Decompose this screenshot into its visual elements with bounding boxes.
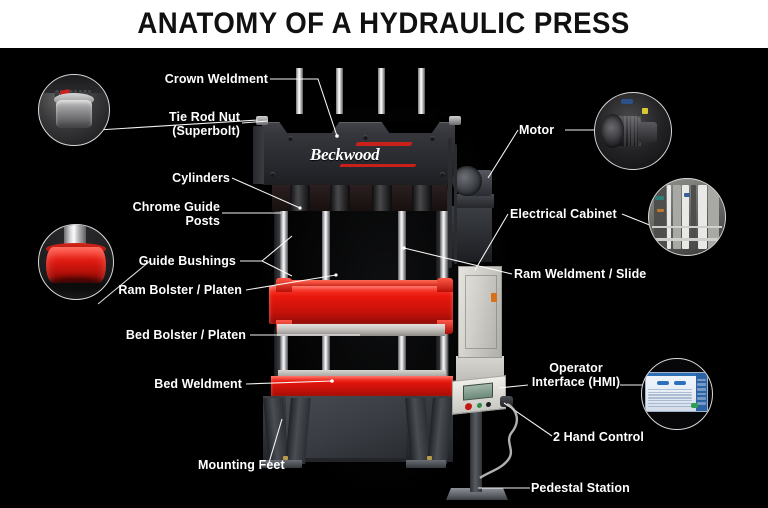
detail-cabinet-terminal <box>655 196 664 200</box>
pedestal-column <box>470 410 482 492</box>
cable-run-vertical <box>448 138 452 268</box>
label-cylinders: Cylinders <box>110 171 230 185</box>
crown-notch <box>262 122 455 133</box>
label-chrome-guide-posts: Chrome Guide Posts <box>100 200 220 228</box>
detail-hmi-status-indicator <box>691 403 698 408</box>
cabinet-disconnect-switch <box>491 293 497 302</box>
bed-bolster-platen <box>271 376 453 396</box>
emergency-stop-button[interactable] <box>465 403 472 411</box>
mounting-foot-bolt <box>427 456 432 460</box>
crown-bolt <box>430 136 435 141</box>
ram-weldment-slide <box>269 286 453 324</box>
ram-bolster-platen <box>277 324 445 336</box>
cylinder-rod <box>418 68 425 114</box>
detail-hmi-button <box>657 381 669 384</box>
guide-bushing-upper-right <box>437 278 453 292</box>
crown-side-plate <box>253 126 264 184</box>
detail-hmi-data-grid <box>648 389 693 409</box>
detail-motor-conduit <box>621 99 633 104</box>
cylinder-rod <box>336 68 343 114</box>
cylinder-rod <box>296 68 303 114</box>
detail-cabinet-terminal <box>684 193 690 198</box>
detail-hmi-button <box>674 381 686 384</box>
label-bed-bolster-platen: Bed Bolster / Platen <box>100 328 246 342</box>
two-hand-control-button[interactable] <box>500 396 513 407</box>
infographic-poster: ANATOMY OF A HYDRAULIC PRESS Beckwood <box>0 0 768 508</box>
hmi-screen[interactable] <box>463 383 493 401</box>
beckwood-logo: Beckwood <box>310 142 420 168</box>
cable-run-bundle <box>454 144 457 264</box>
detail-motor-junction-box <box>638 122 658 142</box>
crown-bolt <box>288 136 293 141</box>
label-tie-rod-nut: Tie Rod Nut (Superbolt) <box>108 110 240 138</box>
detail-cabinet-din-rail <box>652 226 722 228</box>
logo-swoosh-bottom <box>339 164 416 167</box>
superbolt-body <box>56 100 92 128</box>
electrical-cabinet-detail-image <box>649 179 725 255</box>
motor-mount <box>456 194 494 208</box>
hydraulic-cylinder <box>330 185 350 211</box>
detail-motor-fan-cover <box>601 114 624 147</box>
detail-hmi-screen <box>645 372 708 413</box>
label-pedestal-station: Pedestal Station <box>531 481 681 495</box>
mounting-foot-right <box>406 460 446 468</box>
crown-bolt <box>270 172 275 177</box>
detail-cabinet-din-rail <box>652 238 722 240</box>
operator-interface-panel[interactable] <box>452 375 506 415</box>
selector-switch[interactable] <box>486 402 491 408</box>
label-guide-bushings: Guide Bushings <box>108 254 236 268</box>
title-band: ANATOMY OF A HYDRAULIC PRESS <box>0 0 768 48</box>
tie-rod-nut-detail-circle <box>38 74 110 146</box>
tie-rod-nut-detail-image <box>39 75 109 145</box>
logo-wordmark: Beckwood <box>310 146 420 163</box>
label-operator-interface: Operator Interface (HMI) <box>506 361 646 389</box>
cylinder-rod <box>378 68 385 114</box>
hydraulic-cylinder <box>290 185 310 211</box>
label-bed-weldment: Bed Weldment <box>110 377 242 391</box>
tie-rod-nut-left <box>256 116 268 125</box>
cabinet-door-panel <box>465 275 497 349</box>
page-title: ANATOMY OF A HYDRAULIC PRESS <box>138 9 630 39</box>
hmi-detail-image <box>642 359 712 429</box>
crown-bolt <box>363 135 368 140</box>
start-button[interactable] <box>477 403 482 409</box>
diagram-stage: Beckwood <box>0 48 768 508</box>
motor-detail-image <box>595 93 671 169</box>
hydraulic-cylinder <box>412 185 432 211</box>
tie-rod-nut-right <box>449 116 461 125</box>
hydraulic-cylinder <box>372 185 392 211</box>
label-ram-weldment-slide: Ram Weldment / Slide <box>514 267 694 281</box>
detail-motor-tag <box>642 108 648 113</box>
crown-bolt <box>440 172 445 177</box>
crown-weldment: Beckwood <box>262 122 455 185</box>
guide-bushing-upper-left <box>276 278 292 292</box>
label-electrical-cabinet: Electrical Cabinet <box>510 207 660 221</box>
label-mounting-feet: Mounting Feet <box>198 458 338 472</box>
label-crown-weldment: Crown Weldment <box>120 72 268 86</box>
hmi-detail-circle <box>641 358 713 430</box>
motor-detail-circle <box>594 92 672 170</box>
electrical-cabinet <box>458 266 502 358</box>
label-motor: Motor <box>519 123 599 137</box>
label-ram-bolster-platen: Ram Bolster / Platen <box>96 283 242 297</box>
label-two-hand-control: 2 Hand Control <box>553 430 703 444</box>
